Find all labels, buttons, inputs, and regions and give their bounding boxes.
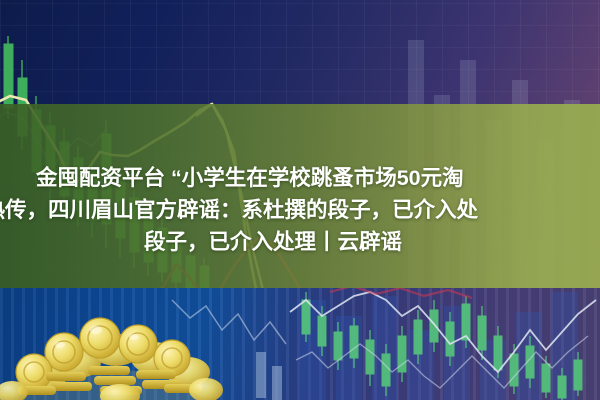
headline-line-2: 频热传，四川眉山官方辟谣：系杜撰的段子，已介入处 — [0, 194, 478, 226]
headline-line-3: 段子，已介入处理丨云辟谣 — [144, 226, 402, 258]
lower-trendline-white-left — [172, 300, 286, 344]
news-thumbnail-card: 金囤配资平台 “小学生在学校跳蚤市场50元淘 频热传，四川眉山官方辟谣：系杜撰的… — [0, 0, 600, 400]
headline-line-1: 金囤配资平台 “小学生在学校跳蚤市场50元淘 — [36, 162, 464, 194]
gold-coin-pile — [0, 318, 223, 400]
lower-small-bars — [256, 352, 282, 400]
headline-text-block: 金囤配资平台 “小学生在学校跳蚤市场50元淘 频热传，四川眉山官方辟谣：系杜撰的… — [0, 104, 600, 288]
